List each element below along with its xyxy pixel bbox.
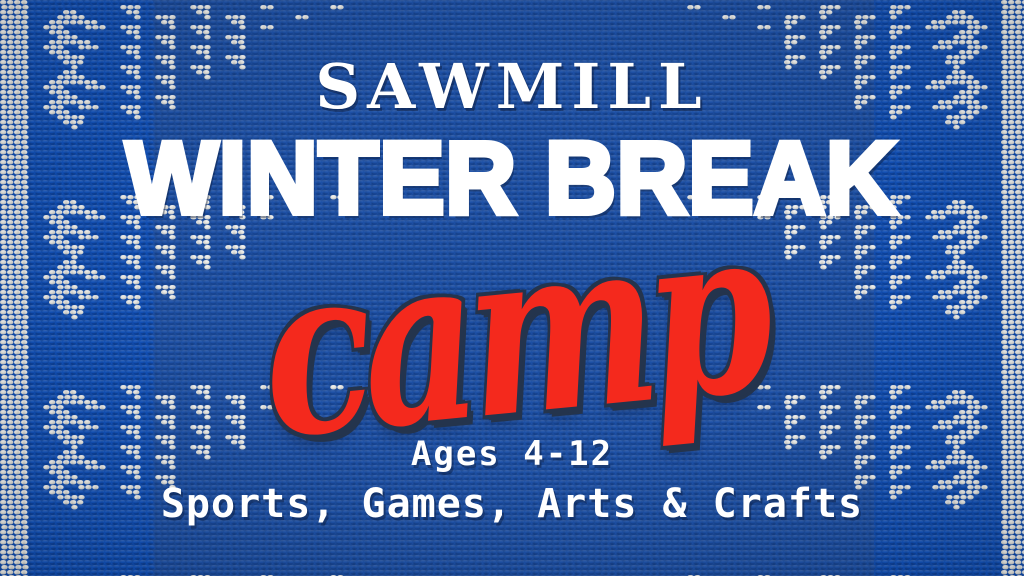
activities-list-text: Sports, Games, Arts & Crafts	[161, 484, 863, 524]
script-word-container: camp	[0, 235, 1024, 431]
organization-title: SAWMILL	[315, 56, 708, 118]
camp-script-word: camp	[252, 195, 772, 471]
winter-break-camp-poster: SAWMILL WINTER BREAK camp Ages 4-12 Spor…	[0, 0, 1024, 576]
